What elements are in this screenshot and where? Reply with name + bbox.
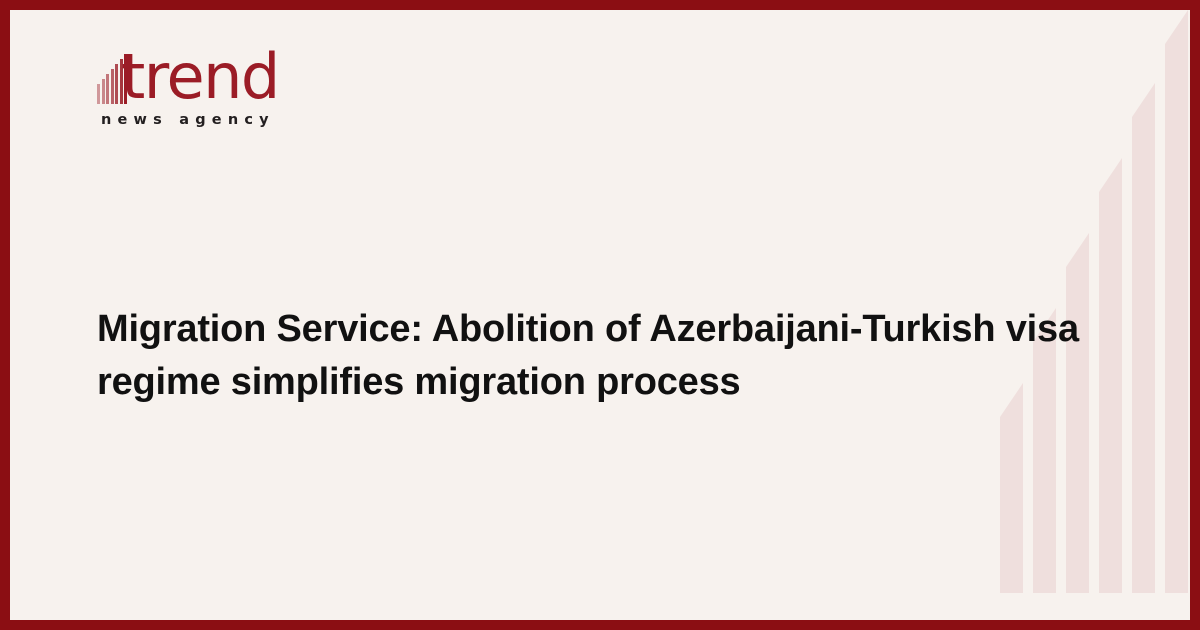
watermark-bar (1132, 83, 1155, 593)
logo-mark-bar (97, 84, 100, 104)
watermark-bar (1165, 10, 1188, 593)
logo-tagline: news agency (101, 112, 275, 128)
ascending-bars-watermark (1000, 10, 1190, 593)
logo-mark-bar (102, 79, 105, 104)
logo-mark-bar (106, 74, 109, 104)
watermark-bar (1066, 233, 1089, 593)
logo-mark-bar (111, 69, 114, 104)
logo-wordmark: trend (121, 46, 279, 108)
og-share-card: trend news agency Migration Service: Abo… (0, 0, 1200, 630)
article-headline: Migration Service: Abolition of Azerbaij… (97, 303, 1097, 409)
trend-news-agency-logo[interactable]: trend news agency (97, 46, 397, 146)
watermark-bar (1000, 383, 1023, 593)
logo-mark-bar (115, 64, 118, 104)
watermark-bar (1099, 158, 1122, 593)
